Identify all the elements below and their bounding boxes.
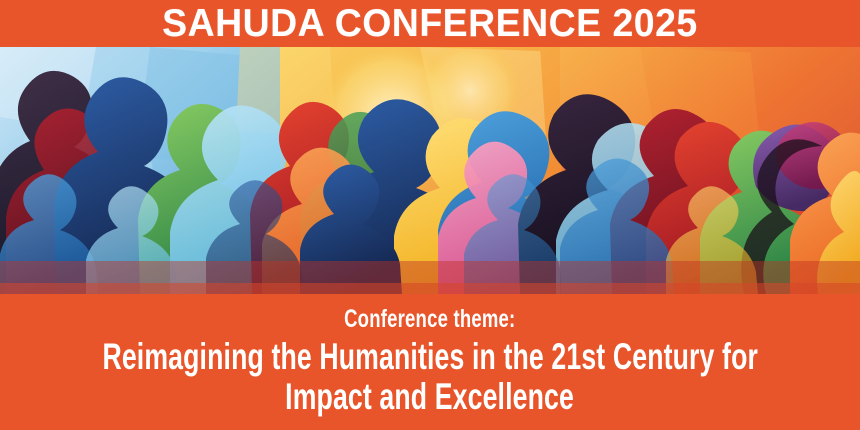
theme-label: Conference theme:	[344, 304, 515, 334]
conference-poster: SAHUDA CONFERENCE 2025	[0, 0, 860, 430]
conference-theme-block: Conference theme: Reimagining the Humani…	[0, 294, 860, 430]
page-title: SAHUDA CONFERENCE 2025	[162, 5, 698, 47]
abstract-people-illustration	[0, 47, 860, 294]
title-band: SAHUDA CONFERENCE 2025	[0, 0, 860, 47]
theme-line-2: Impact and Excellence	[286, 376, 575, 417]
artwork-banner-image	[0, 47, 860, 294]
theme-line-1: Reimagining the Humanities in the 21st C…	[102, 336, 758, 377]
